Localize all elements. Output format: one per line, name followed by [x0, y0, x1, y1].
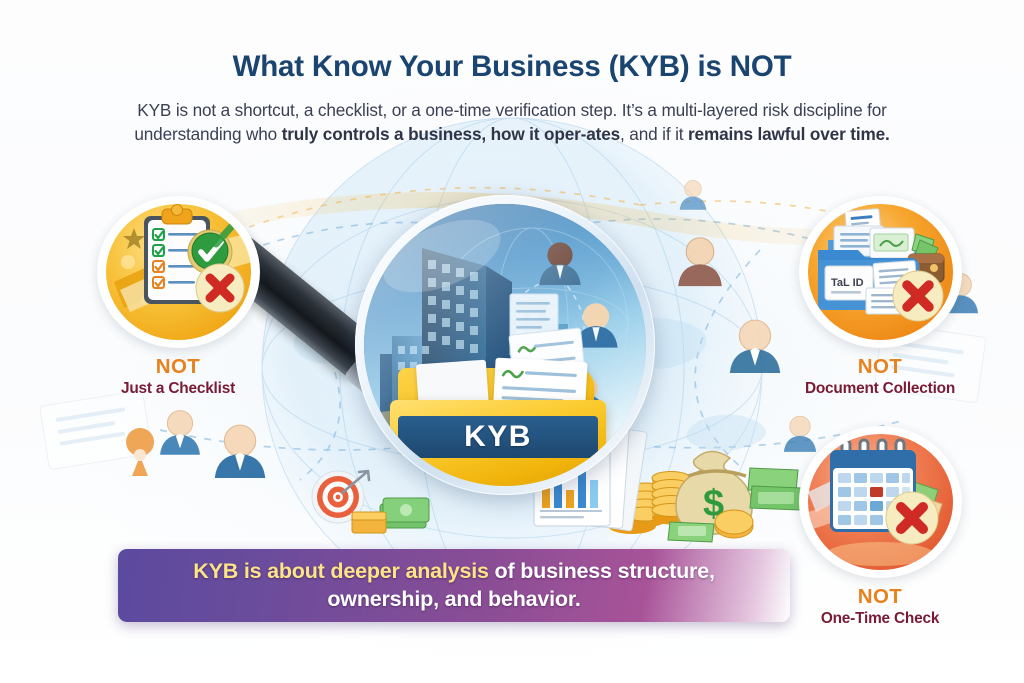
- folder-front-panel: KYB: [390, 400, 606, 486]
- calendar-icon: [808, 434, 953, 570]
- subtitle-bold-ates: ates: [586, 124, 620, 144]
- red-x-icon: [886, 492, 938, 544]
- badge-checklist-title: Just a Checklist: [88, 380, 268, 398]
- subtitle-bold-lawful: remains lawful over time.: [688, 124, 890, 144]
- red-x-icon: [893, 271, 943, 321]
- red-x-icon: [196, 264, 244, 312]
- banner-rest: of business structure,: [489, 559, 715, 583]
- map-pin-icon: [126, 428, 154, 476]
- subtitle-line-1: KYB is not a shortcut, a checklist, or a…: [137, 100, 758, 120]
- badge-one-time-check[interactable]: NOT One-Time Check: [790, 426, 970, 628]
- clipboard-checklist-icon: [106, 204, 251, 340]
- badge-onetime-not-label: NOT: [790, 585, 970, 609]
- page-title: What Know Your Business (KYB) is NOT: [0, 50, 1024, 85]
- folder-label-text: KYB: [464, 420, 532, 454]
- cash-stack-icon: [668, 468, 802, 542]
- document-id-label: TaL ID: [831, 277, 864, 289]
- subtitle-bold-controls: truly controls a business: [282, 124, 482, 144]
- magnifier-lens-ring: KYB: [355, 195, 655, 495]
- summary-banner-text: KYB is about deeper analysis of business…: [167, 558, 741, 614]
- badge-documents-disc: TaL ID: [799, 196, 962, 348]
- magnifier-lens-glass: KYB: [364, 204, 646, 486]
- calendar-svg: [808, 434, 953, 570]
- kyb-folder: KYB: [384, 342, 624, 486]
- badge-just-a-checklist[interactable]: NOT Just a Checklist: [88, 196, 268, 398]
- badge-documents-title: Document Collection: [790, 380, 970, 398]
- badge-onetime-title: One-Time Check: [790, 610, 970, 628]
- banner-line-2: ownership, and behavior.: [327, 587, 580, 611]
- dollar-sign-icon: $: [703, 483, 724, 525]
- badge-documents-not-label: NOT: [790, 355, 970, 379]
- badge-checklist-disc: [97, 196, 260, 348]
- badge-document-collection[interactable]: TaL ID: [790, 196, 970, 398]
- document-folder-stack-icon: TaL ID: [808, 204, 953, 340]
- folder-label-plate: KYB: [398, 416, 598, 458]
- summary-banner: KYB is about deeper analysis of business…: [118, 549, 790, 622]
- magnifying-glass-icon: KYB: [355, 195, 665, 495]
- badge-checklist-not-label: NOT: [88, 355, 268, 379]
- cash-stack-icon: [380, 498, 429, 528]
- infographic-canvas: What Know Your Business (KYB) is NOT KYB…: [0, 0, 1024, 683]
- badge-onetime-disc: [799, 426, 962, 578]
- money-bag-icon: $: [676, 451, 752, 534]
- document-folder-svg: TaL ID: [808, 204, 953, 340]
- page-subtitle: KYB is not a shortcut, a checklist, or a…: [112, 98, 912, 147]
- subtitle-line-3-plain: , and if it: [620, 124, 688, 144]
- clipboard-checklist-svg: [106, 204, 251, 340]
- header: What Know Your Business (KYB) is NOT KYB…: [0, 50, 1024, 147]
- banner-highlight: KYB is about deeper analysis: [193, 559, 489, 583]
- subtitle-bold-operates: , how it oper-: [481, 124, 586, 144]
